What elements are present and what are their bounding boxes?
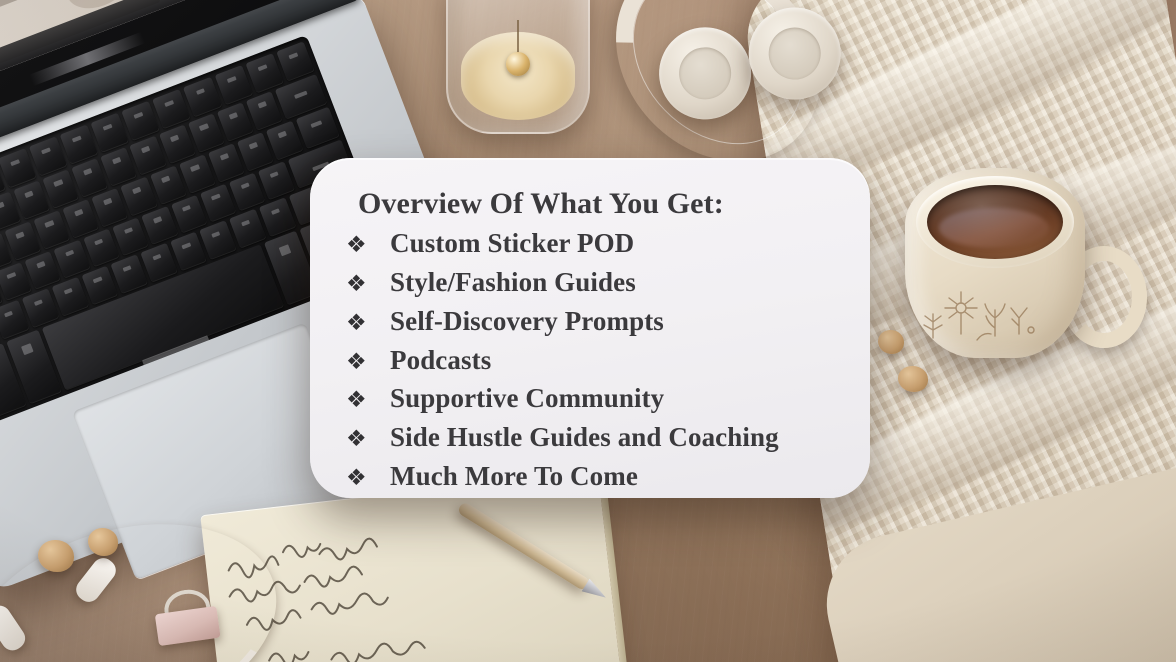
candle-jar: [446, 0, 590, 134]
page-title: Overview Of What You Get:: [334, 188, 870, 220]
slide-canvas: Overview Of What You Get: ❖ Custom Stick…: [0, 0, 1176, 662]
list-item: ❖ Custom Sticker POD: [334, 226, 870, 262]
headphones: [594, 0, 837, 164]
list-item-label: Much More To Come: [390, 459, 638, 495]
benefits-list: ❖ Custom Sticker POD ❖ Style/Fashion Gui…: [334, 226, 870, 495]
walnut: [38, 540, 74, 572]
walnut: [878, 330, 904, 354]
list-item: ❖ Side Hustle Guides and Coaching: [334, 420, 870, 456]
diamond-bullet-icon: ❖: [334, 427, 390, 450]
diamond-bullet-icon: ❖: [334, 388, 390, 411]
list-item-label: Podcasts: [390, 343, 491, 379]
binder-clip: [153, 596, 220, 646]
walnut: [898, 366, 928, 392]
list-item: ❖ Much More To Come: [334, 459, 870, 495]
list-item: ❖ Self-Discovery Prompts: [334, 304, 870, 340]
list-item-label: Supportive Community: [390, 381, 664, 417]
diamond-bullet-icon: ❖: [334, 350, 390, 373]
list-item: ❖ Podcasts: [334, 343, 870, 379]
list-item-label: Style/Fashion Guides: [390, 265, 636, 301]
candle-wick-bead: [506, 52, 530, 76]
list-item: ❖ Style/Fashion Guides: [334, 265, 870, 301]
handwriting-scribble: [220, 494, 569, 662]
tea-reflection: [939, 208, 1049, 248]
diamond-bullet-icon: ❖: [334, 311, 390, 334]
list-item-label: Custom Sticker POD: [390, 226, 634, 262]
list-item: ❖ Supportive Community: [334, 381, 870, 417]
diamond-bullet-icon: ❖: [334, 233, 390, 256]
mug-botanical-art: [915, 274, 1043, 350]
list-item-label: Side Hustle Guides and Coaching: [390, 420, 779, 456]
diamond-bullet-icon: ❖: [334, 466, 390, 489]
overview-card: Overview Of What You Get: ❖ Custom Stick…: [310, 158, 870, 498]
walnut: [88, 528, 118, 556]
diamond-bullet-icon: ❖: [334, 272, 390, 295]
list-item-label: Self-Discovery Prompts: [390, 304, 664, 340]
tea-mug: [905, 168, 1111, 378]
